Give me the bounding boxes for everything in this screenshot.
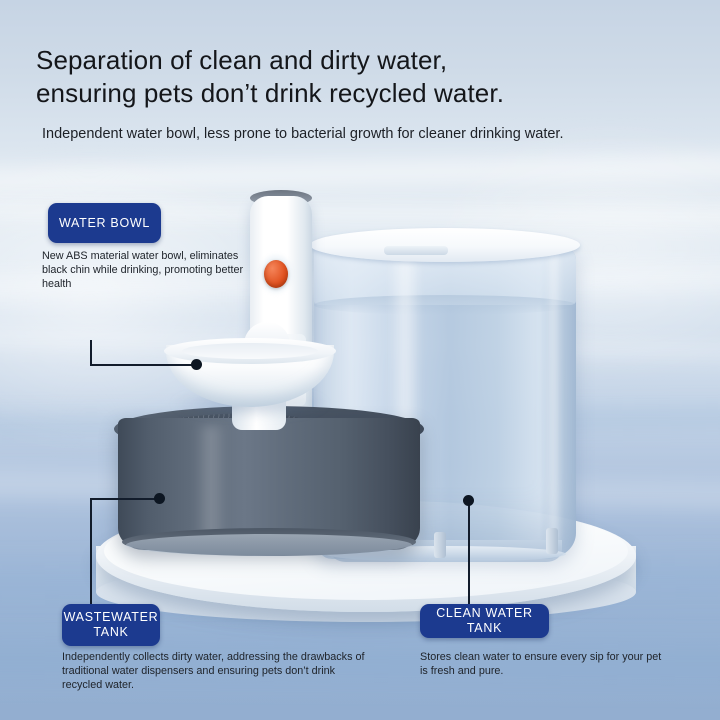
badge-wastewater-line-2: TANK — [93, 625, 128, 639]
leader-line-wastewater — [90, 498, 92, 606]
badge-clean-water-tank-label: CLEAN WATER TANK — [420, 606, 549, 636]
description-clean-water-tank: Stores clean water to ensure every sip f… — [420, 650, 670, 678]
leader-dot-wastewater — [154, 493, 165, 504]
wastewater-highlight — [196, 426, 226, 542]
lid-handle-notch — [384, 246, 448, 255]
badge-wastewater-line-1: WASTEWATER — [64, 610, 159, 624]
tank-clip — [546, 528, 558, 554]
badge-water-bowl-label: WATER BOWL — [59, 216, 150, 231]
leader-line-clean-water — [468, 500, 470, 606]
clean-water-tank-lid — [310, 228, 580, 262]
tank-highlight — [546, 252, 562, 542]
infographic-canvas: Separation of clean and dirty water, ens… — [0, 0, 720, 720]
leader-dot-clean-water — [463, 495, 474, 506]
power-button-icon[interactable] — [264, 260, 288, 288]
leader-line-water-bowl — [90, 340, 92, 365]
badge-wastewater-tank[interactable]: WASTEWATER TANK — [62, 604, 160, 646]
leader-dot-water-bowl — [191, 359, 202, 370]
leader-line-wastewater — [90, 498, 159, 500]
description-water-bowl: New ABS material water bowl, eliminates … — [42, 249, 262, 291]
badge-clean-water-tank[interactable]: CLEAN WATER TANK — [420, 604, 549, 638]
water-bowl-inner — [182, 343, 318, 359]
wastewater-tank-foot-rim — [126, 534, 412, 556]
badge-water-bowl[interactable]: WATER BOWL — [48, 203, 161, 243]
leader-line-water-bowl — [90, 364, 196, 366]
description-wastewater-tank: Independently collects dirty water, addr… — [62, 650, 374, 692]
badge-wastewater-tank-label: WASTEWATER TANK — [64, 610, 159, 640]
tank-clip — [434, 532, 446, 558]
